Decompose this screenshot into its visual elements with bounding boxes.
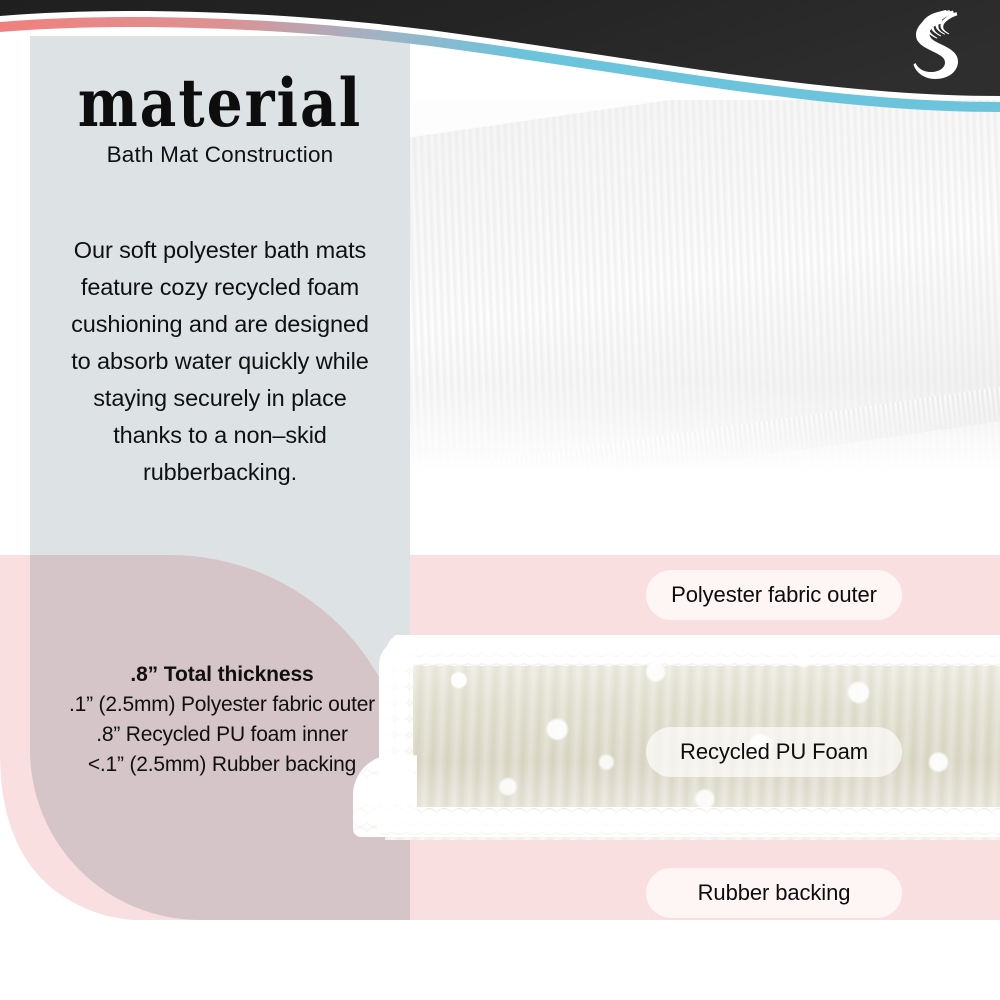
label-rubber-backing: Rubber backing <box>646 868 902 918</box>
description-line: staying securely in place <box>42 380 398 417</box>
s-swoosh-logo <box>900 8 966 82</box>
description-paragraph: Our soft polyester bath mats feature coz… <box>42 232 398 491</box>
description-line: cushioning and are designed <box>42 306 398 343</box>
description-line: Our soft polyester bath mats <box>42 232 398 269</box>
label-polyester-fabric-outer: Polyester fabric outer <box>646 570 902 620</box>
infographic-canvas: material Bath Mat Construction Our soft … <box>0 0 1000 1000</box>
description-line: rubberbacking. <box>42 454 398 491</box>
description-line: feature cozy recycled foam <box>42 269 398 306</box>
description-line: thanks to a non–skid <box>42 417 398 454</box>
page-subtitle: Bath Mat Construction <box>30 142 410 168</box>
fabric-outer-layer <box>385 635 1000 666</box>
mat-photo-fade <box>410 100 1000 555</box>
bath-mat-corner-photo <box>410 100 1000 555</box>
cross-section-bottom-edge <box>377 807 1000 837</box>
label-recycled-pu-foam: Recycled PU Foam <box>646 727 902 777</box>
page-title: material <box>30 70 410 137</box>
description-line: to absorb water quickly while <box>42 343 398 380</box>
